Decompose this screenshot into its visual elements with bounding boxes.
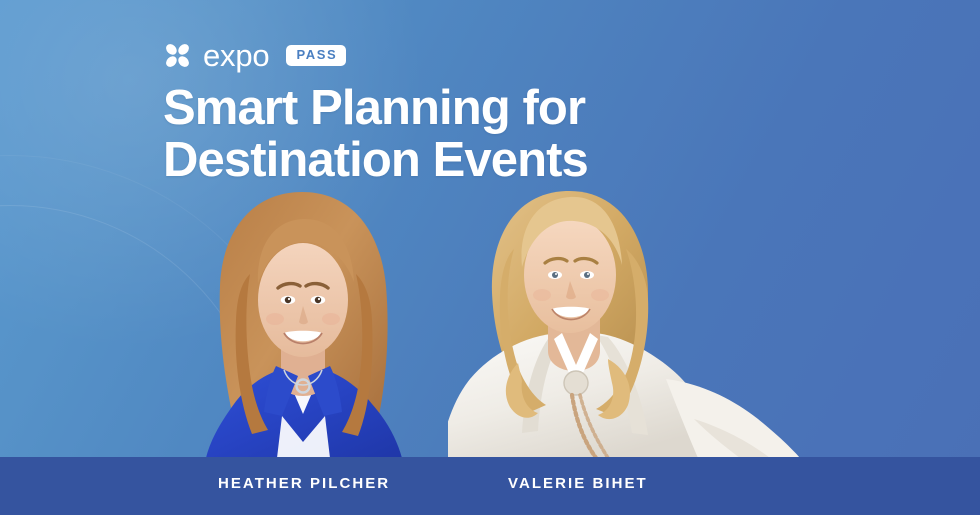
webinar-promo-banner: expo PASS Smart Planning for Destination… [0,0,980,515]
speaker-photos [0,0,980,458]
speaker-name-bar: HEATHER PILCHER VALERIE BIHET [0,457,980,515]
speaker-name-heather-pilcher: HEATHER PILCHER [218,476,390,491]
speaker-name-valerie-bihet: VALERIE BIHET [508,476,648,491]
speaker-photo-valerie-bihet [448,183,803,458]
speaker-photo-heather-pilcher [178,190,428,458]
